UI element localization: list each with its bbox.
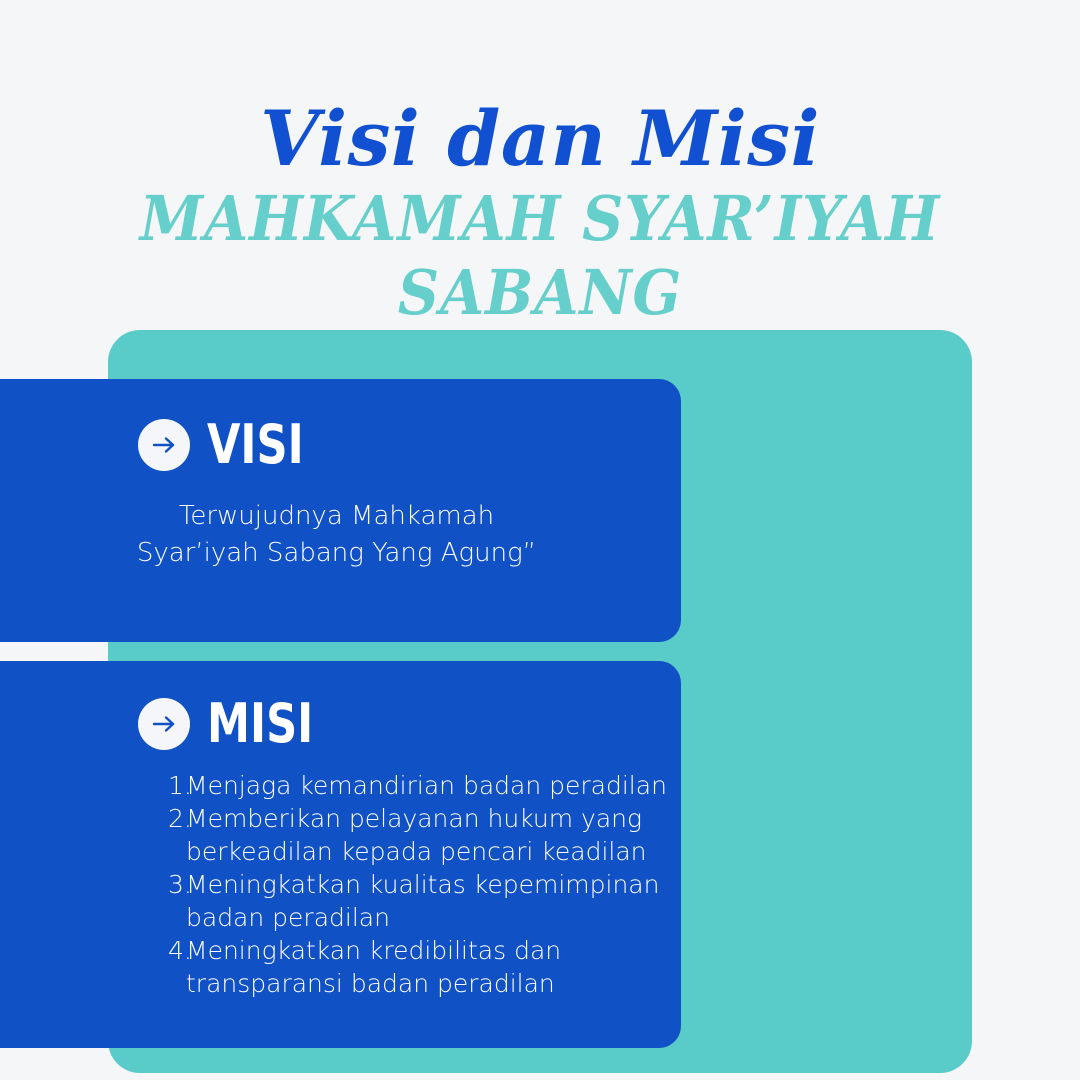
list-item-text: Memberikan pelayanan hukum yang berkeadi… <box>186 804 647 866</box>
page-title: Visi dan Misi <box>0 96 1080 182</box>
arrow-right-circle-icon <box>138 698 190 750</box>
list-item-number: 4. <box>168 934 192 967</box>
visi-card-body: Terwujudnya Mahkamah Syar’iyah Sabang Ya… <box>0 498 681 572</box>
misi-card-title: MISI <box>207 697 313 751</box>
misi-card: MISI 1. Menjaga kemandirian badan peradi… <box>0 661 681 1048</box>
list-item-text: Menjaga kemandirian badan peradilan <box>186 771 667 800</box>
page-subtitle-line-1: MAHKAMAH SYAR’IYAH <box>43 182 1037 256</box>
list-item-number: 2. <box>168 802 192 835</box>
arrow-right-circle-icon <box>138 419 190 471</box>
list-item: 1. Menjaga kemandirian badan peradilan <box>168 769 671 802</box>
list-item-number: 1. <box>168 769 192 802</box>
list-item-text: Meningkatkan kualitas kepemimpinan badan… <box>186 870 659 932</box>
poster-canvas: Visi dan Misi MAHKAMAH SYAR’IYAH SABANG … <box>0 0 1080 1080</box>
list-item: 4. Meningkatkan kredibilitas dan transpa… <box>168 934 671 1000</box>
page-subtitle-line-2: SABANG <box>43 256 1037 330</box>
visi-card-header: VISI <box>0 379 681 472</box>
visi-card: VISI Terwujudnya Mahkamah Syar’iyah Saba… <box>0 379 681 642</box>
list-item: 2. Memberikan pelayanan hukum yang berke… <box>168 802 671 868</box>
heading-block: Visi dan Misi MAHKAMAH SYAR’IYAH SABANG <box>0 96 1080 330</box>
list-item-number: 3. <box>168 868 192 901</box>
list-item-text: Meningkatkan kredibilitas dan transparan… <box>186 936 561 998</box>
visi-card-title: VISI <box>207 418 304 472</box>
misi-card-header: MISI <box>0 661 681 751</box>
page-subtitle: MAHKAMAH SYAR’IYAH SABANG <box>43 182 1037 330</box>
list-item: 3. Meningkatkan kualitas kepemimpinan ba… <box>168 868 671 934</box>
misi-list: 1. Menjaga kemandirian badan peradilan 2… <box>0 769 681 1000</box>
